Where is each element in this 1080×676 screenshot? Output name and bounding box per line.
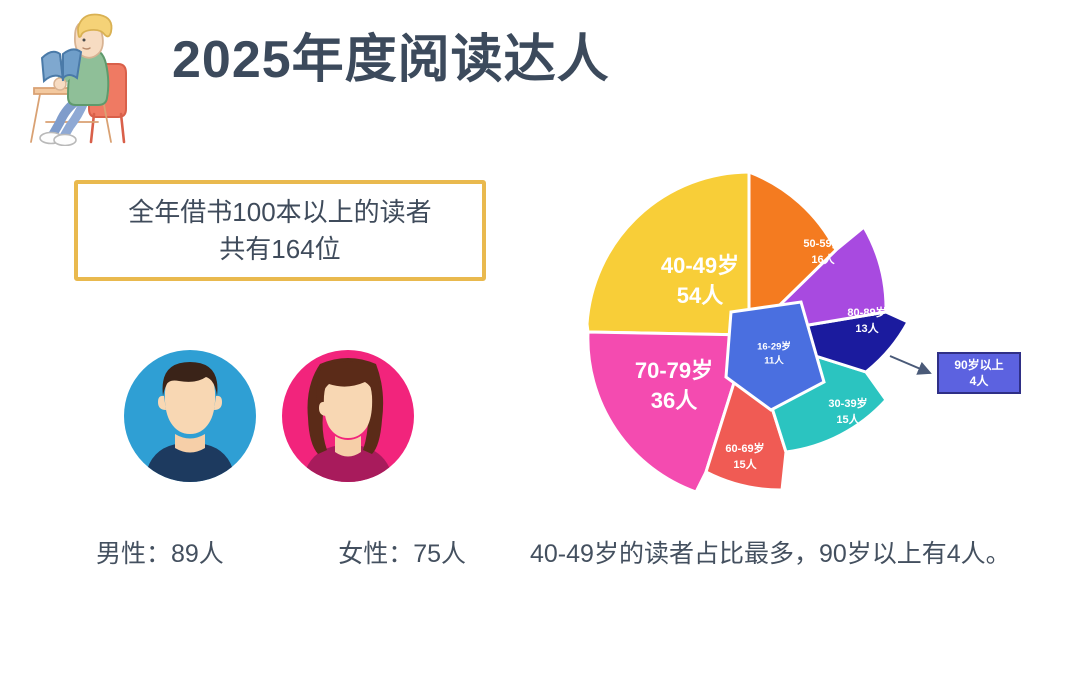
student-reading-illustration <box>22 4 154 146</box>
callout-90-count: 4人 <box>970 373 989 389</box>
callout-90-plus: 90岁以上 4人 <box>937 352 1021 394</box>
pie-label-16-29-count: 11人 <box>764 355 784 367</box>
pie-label-80-89-title: 80-89岁 <box>847 305 886 319</box>
title-divider <box>132 106 1037 114</box>
summary-line-1: 全年借书100本以上的读者 <box>128 194 431 231</box>
pie-label-70-79-count: 36人 <box>651 388 697 413</box>
pie-label-40-49-title: 40-49岁 <box>661 253 739 278</box>
age-distribution-pie-chart: 40-49岁 54人 50-59岁 16人 80-89岁 13人 30-39岁 … <box>586 172 912 498</box>
male-count-label: 男性：89人 <box>96 534 224 570</box>
female-avatar <box>280 348 416 484</box>
female-count-label: 女性：75人 <box>338 534 466 570</box>
summary-callout-box: 全年借书100本以上的读者 共有164位 <box>74 180 486 281</box>
pie-label-50-59-title: 50-59岁 <box>803 236 842 250</box>
pie-label-30-39-title: 30-39岁 <box>828 396 867 410</box>
callout-90-title: 90岁以上 <box>954 357 1003 373</box>
chart-caption: 40-49岁的读者占比最多，90岁以上有4人。 <box>530 534 1011 570</box>
pie-label-60-69-title: 60-69岁 <box>725 441 764 455</box>
male-avatar <box>122 348 258 484</box>
pie-label-80-89-count: 13人 <box>855 321 879 335</box>
summary-line-2: 共有164位 <box>219 231 340 268</box>
pie-label-40-49-count: 54人 <box>677 283 723 308</box>
callout-arrow-icon <box>888 352 940 392</box>
pie-label-60-69-count: 15人 <box>733 457 757 471</box>
pie-label-30-39-count: 15人 <box>836 412 860 426</box>
page-title: 2025年度阅读达人 <box>172 33 610 88</box>
pie-label-70-79-title: 70-79岁 <box>635 358 713 383</box>
pie-label-16-29-title: 16-29岁 <box>757 341 791 353</box>
gender-counts-row: 男性：89人 女性：75人 <box>96 534 466 570</box>
pie-label-50-59-count: 16人 <box>811 252 835 266</box>
